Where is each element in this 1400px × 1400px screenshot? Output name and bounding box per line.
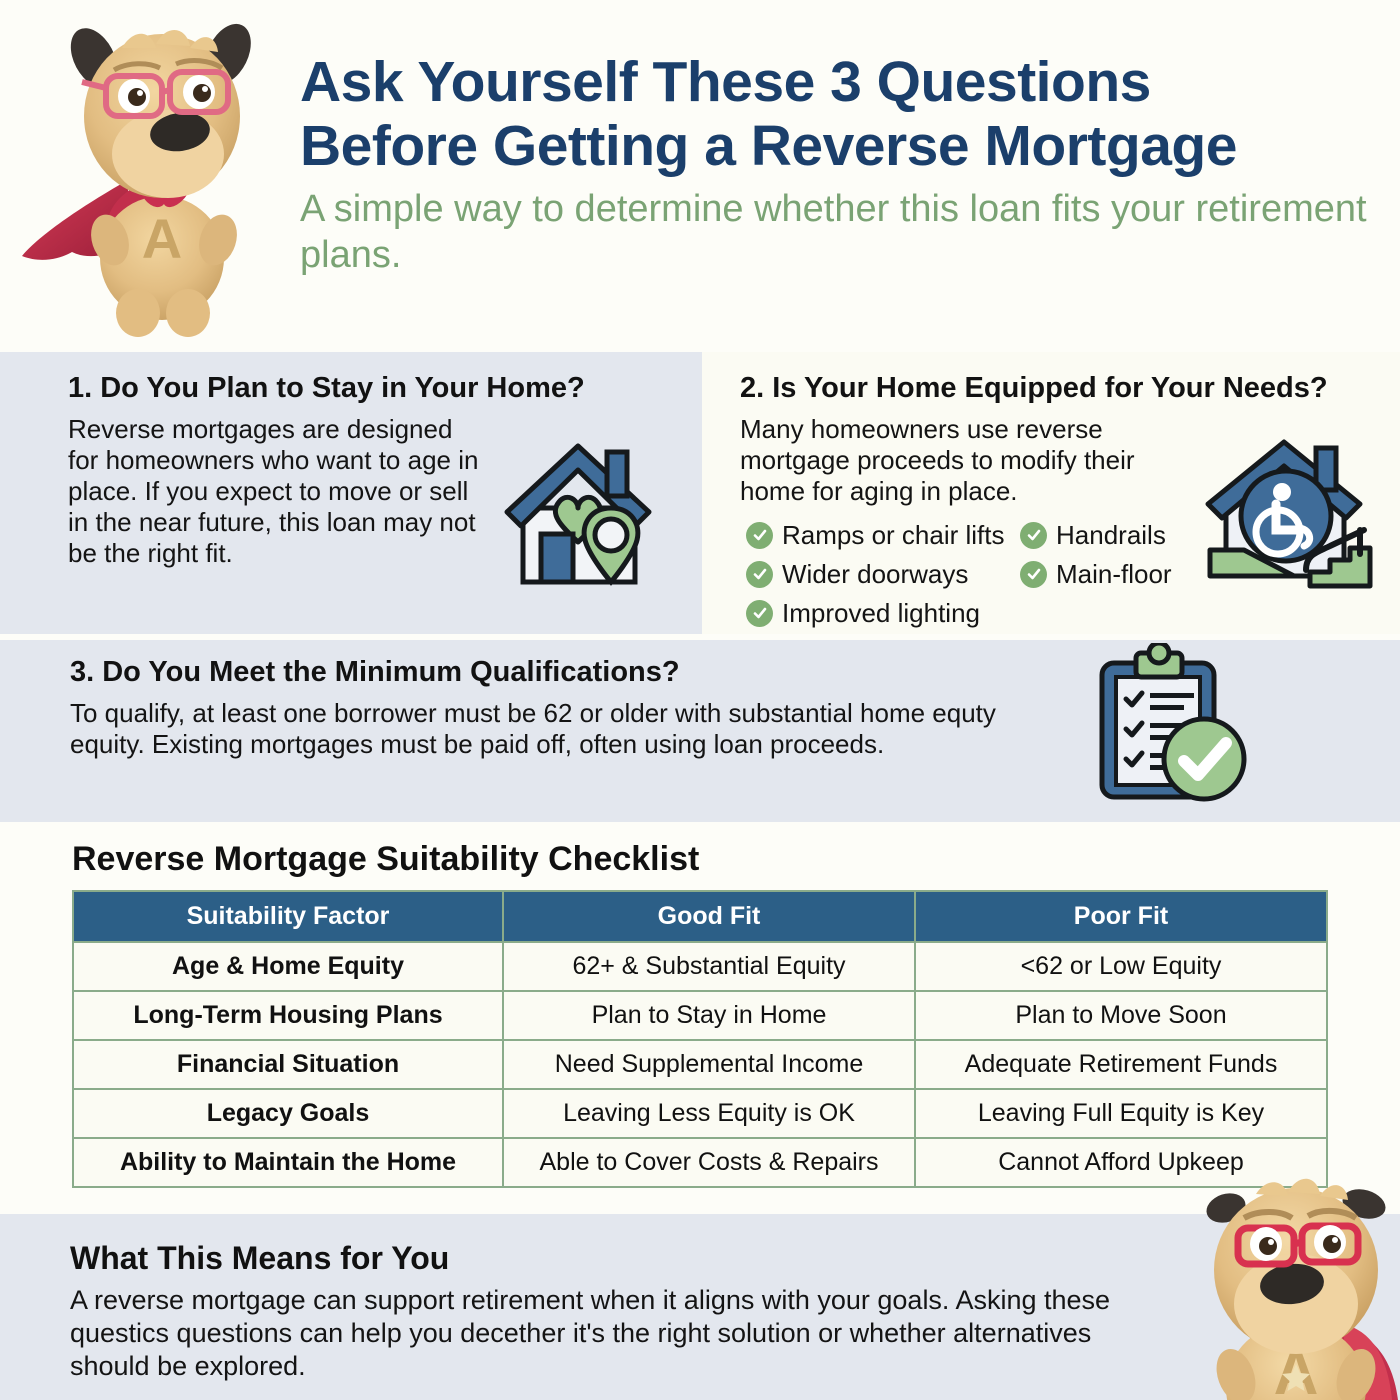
- header: A: [0, 0, 1400, 350]
- table-cell-factor: Legacy Goals: [73, 1089, 503, 1138]
- table-row: Legacy Goals Leaving Less Equity is OK L…: [73, 1089, 1327, 1138]
- table-cell-good: Need Supplemental Income: [503, 1040, 915, 1089]
- table-cell-factor: Financial Situation: [73, 1040, 503, 1089]
- table-row: Financial Situation Need Supplemental In…: [73, 1040, 1327, 1089]
- svg-text:A: A: [142, 207, 182, 270]
- table-row: Long-Term Housing Plans Plan to Stay in …: [73, 991, 1327, 1040]
- checklist-column-left: Ramps or chair lifts Wider doorways Impr…: [746, 518, 1005, 635]
- table-header-cell: Suitability Factor: [73, 891, 503, 942]
- table-cell-good: 62+ & Substantial Equity: [503, 942, 915, 991]
- table-cell-good: Plan to Stay in Home: [503, 991, 915, 1040]
- accessible-house-ramp-icon: [1198, 430, 1384, 598]
- card-3-heading: 3. Do You Meet the Minimum Qualification…: [70, 656, 680, 689]
- checklist-label: Handrails: [1056, 520, 1166, 551]
- card-1-body: Reverse mortgages are designed for homeo…: [68, 414, 488, 569]
- superhero-dog-mascot-icon: A: [1192, 1178, 1400, 1400]
- list-item: Handrails: [1020, 518, 1172, 552]
- suitability-table-section: Reverse Mortgage Suitability Checklist S…: [0, 822, 1400, 1214]
- check-circle-icon: [746, 600, 773, 627]
- list-item: Wider doorways: [746, 557, 1005, 591]
- card-2-body: Many homeowners use reverse mortgage pro…: [740, 414, 1170, 507]
- table-cell-poor: <62 or Low Equity: [915, 942, 1327, 991]
- table-cell-factor: Ability to Maintain the Home: [73, 1138, 503, 1187]
- table-cell-good: Able to Cover Costs & Repairs: [503, 1138, 915, 1187]
- check-circle-icon: [1020, 522, 1047, 549]
- title-block: Ask Yourself These 3 Questions Before Ge…: [300, 50, 1385, 278]
- list-item: Ramps or chair lifts: [746, 518, 1005, 552]
- table-cell-good: Leaving Less Equity is OK: [503, 1089, 915, 1138]
- page-subtitle: A simple way to determine whether this l…: [300, 186, 1385, 278]
- list-item: Improved lighting: [746, 596, 1005, 630]
- table-header-row: Suitability Factor Good Fit Poor Fit: [73, 891, 1327, 942]
- house-heart-location-icon: [495, 430, 660, 600]
- card-2-heading: 2. Is Your Home Equipped for Your Needs?: [740, 372, 1328, 405]
- table-cell-factor: Age & Home Equity: [73, 942, 503, 991]
- checklist-label: Ramps or chair lifts: [782, 520, 1005, 551]
- page-title-line2: Before Getting a Reverse Mortgage: [300, 114, 1385, 178]
- checklist-label: Improved lighting: [782, 598, 980, 629]
- list-item: Main-floor: [1020, 557, 1172, 591]
- footer-panel: What This Means for You A reverse mortga…: [0, 1214, 1400, 1400]
- footer-heading: What This Means for You: [70, 1240, 449, 1277]
- table-title: Reverse Mortgage Suitability Checklist: [72, 840, 699, 879]
- table-row: Age & Home Equity 62+ & Substantial Equi…: [73, 942, 1327, 991]
- table-header-cell: Poor Fit: [915, 891, 1327, 942]
- table-cell-factor: Long-Term Housing Plans: [73, 991, 503, 1040]
- table-cell-poor: Leaving Full Equity is Key: [915, 1089, 1327, 1138]
- check-circle-icon: [746, 561, 773, 588]
- clipboard-check-icon: [1088, 643, 1254, 809]
- page-title-line1: Ask Yourself These 3 Questions: [300, 50, 1385, 114]
- check-circle-icon: [1020, 561, 1047, 588]
- footer-body: A reverse mortgage can support retiremen…: [70, 1284, 1160, 1383]
- card-1-heading: 1. Do You Plan to Stay in Your Home?: [68, 372, 585, 405]
- table-cell-poor: Plan to Move Soon: [915, 991, 1327, 1040]
- card-3-body: To qualify, at least one borrower must b…: [70, 698, 1000, 760]
- check-circle-icon: [746, 522, 773, 549]
- checklist-label: Main-floor: [1056, 559, 1172, 590]
- table-header-cell: Good Fit: [503, 891, 915, 942]
- superhero-dog-mascot-icon: A: [10, 8, 290, 338]
- table-row: Ability to Maintain the Home Able to Cov…: [73, 1138, 1327, 1187]
- suitability-table: Suitability Factor Good Fit Poor Fit Age…: [72, 890, 1328, 1188]
- checklist-label: Wider doorways: [782, 559, 968, 590]
- infographic-page: A: [0, 0, 1400, 1400]
- table-cell-poor: Adequate Retirement Funds: [915, 1040, 1327, 1089]
- checklist-column-right: Handrails Main-floor: [1020, 518, 1172, 596]
